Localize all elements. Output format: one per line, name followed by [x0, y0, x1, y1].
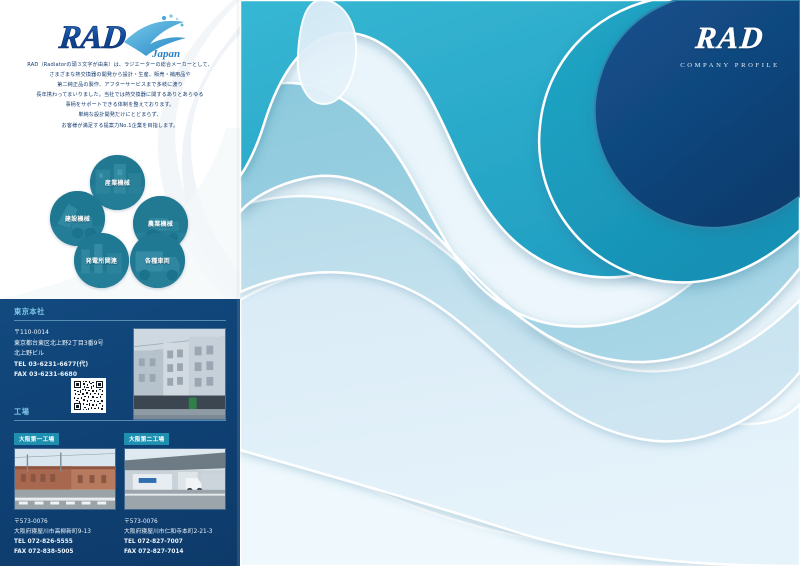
factory-tel: TEL 072-826-5555	[14, 537, 116, 547]
svg-text:Japan: Japan	[151, 48, 180, 60]
factory-address: 大阪府寝屋川市仁和寺本町2-21-3	[124, 527, 226, 537]
segment-label: 産業機械	[105, 178, 130, 187]
intro-line: 単純な設計開発だけにとどまらず、	[12, 110, 228, 120]
hq-postal: 〒110-0014	[14, 328, 122, 339]
wave-notch-top-left	[298, 0, 356, 104]
segment-label: 建設機械	[65, 214, 90, 223]
factory-address-text: 〒573-0076 大阪府寝屋川市仁和寺本町2-21-3 TEL 072-827…	[124, 517, 226, 557]
intro-page: RAD Japan RAD（Radiatorの頭３文字が由来）は、ラジエーターの…	[0, 0, 240, 299]
factory-fax: FAX 072-838-5005	[14, 547, 116, 557]
hq-tel: TEL 03-6231-6677(代)	[14, 360, 122, 371]
headquarters-block: 東京本社 〒110-0014 東京都台東区北上野2丁目3番9号 北上野ビル TE…	[14, 307, 226, 420]
factory-postal: 〒573-0076	[124, 517, 226, 527]
factory-badge: 大阪第二工場	[124, 433, 169, 445]
headquarters-address-text: 〒110-0014 東京都台東区北上野2丁目3番9号 北上野ビル TEL 03-…	[14, 328, 122, 381]
panel-edge	[237, 299, 240, 566]
intro-line: 長年携わってまいりました。当社では熱交換器に関するありとあらゆる	[12, 90, 228, 100]
intro-line: お客様が満足する提案力No.1企業を目指します。	[12, 121, 228, 131]
rad-japan-logo: RAD Japan	[58, 12, 198, 60]
factory-photo	[124, 448, 226, 510]
hq-address: 東京都台東区北上野2丁目3番9号	[14, 339, 122, 350]
factory-address: 大阪府寝屋川市高柳新町9-13	[14, 527, 116, 537]
factory-fax: FAX 072-827-7014	[124, 547, 226, 557]
segment-circle-vehicles[interactable]: 各種車両	[130, 233, 185, 288]
segment-label: 発電所関連	[86, 256, 118, 265]
page-fold-shadow	[237, 0, 240, 299]
hq-building: 北上野ビル	[14, 349, 122, 360]
intro-paragraph: RAD（Radiatorの頭３文字が由来）は、ラジエーターの総合メーカーとして、…	[12, 60, 228, 131]
factory-badge: 大阪第一工場	[14, 433, 59, 445]
business-segment-circles: 産業機械 建設機械	[38, 155, 208, 280]
section-divider	[14, 420, 226, 421]
factory-photo	[14, 448, 116, 510]
section-divider	[14, 320, 226, 321]
segment-circle-powerplant[interactable]: 発電所関連	[74, 233, 129, 288]
factory-card: 大阪第一工場	[14, 428, 116, 557]
segment-label: 農業機械	[148, 219, 173, 228]
company-profile-spread: RAD COMPANY PROFILE	[0, 0, 800, 566]
intro-line: RAD（Radiatorの頭３文字が由来）は、ラジエーターの総合メーカーとして、	[12, 60, 228, 70]
factory-card: 大阪第二工場	[124, 428, 226, 557]
intro-line: 第二純正品の製作、アフターサービスまで多岐に渡り	[12, 80, 228, 90]
factory-postal: 〒573-0076	[14, 517, 116, 527]
factory-tel: TEL 072-827-7007	[124, 537, 226, 547]
intro-line: 事柄をサポートできる体制を整えております。	[12, 100, 228, 110]
segment-label: 各種車両	[145, 256, 170, 265]
cover-page: RAD COMPANY PROFILE	[240, 0, 800, 566]
factories-title: 工場	[14, 407, 226, 417]
cover-wave-artwork	[240, 0, 800, 566]
contact-info-panel: 東京本社 〒110-0014 東京都台東区北上野2丁目3番9号 北上野ビル TE…	[0, 299, 240, 566]
factories-block: 工場 大阪第一工場	[14, 407, 226, 557]
factory-address-text: 〒573-0076 大阪府寝屋川市高柳新町9-13 TEL 072-826-55…	[14, 517, 116, 557]
svg-text:RAD: RAD	[58, 20, 128, 56]
headquarters-title: 東京本社	[14, 307, 226, 317]
intro-line: さまざまな熱交換器の開発から設計・生産、販売・補用品や	[12, 70, 228, 80]
